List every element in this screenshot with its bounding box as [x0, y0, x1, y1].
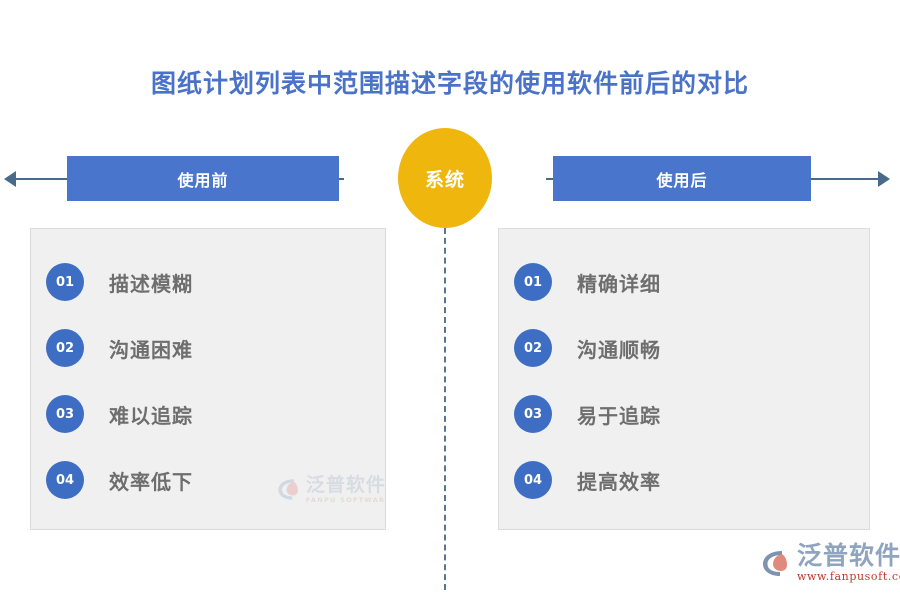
- item-label: 精确详细: [577, 268, 661, 297]
- list-item: 04 效率低下: [31, 447, 385, 513]
- list-item: 02 沟通困难: [31, 315, 385, 381]
- header-bar-after-label: 使用后: [656, 167, 707, 191]
- item-label: 提高效率: [577, 466, 661, 495]
- list-item: 01 描述模糊: [31, 249, 385, 315]
- center-system-label: 系统: [425, 165, 465, 192]
- brand-text: 泛普软件 www.fanpusoft.com: [797, 543, 900, 582]
- item-label: 描述模糊: [109, 268, 193, 297]
- item-label: 效率低下: [109, 466, 193, 495]
- list-item: 03 难以追踪: [31, 381, 385, 447]
- fanpu-logo-icon: [760, 547, 792, 579]
- page-title: 图纸计划列表中范围描述字段的使用软件前后的对比: [0, 64, 900, 100]
- header-bar-after: 使用后: [553, 156, 811, 201]
- item-number-badge: 03: [514, 395, 552, 433]
- arrow-left-icon: [4, 171, 16, 187]
- item-number-badge: 01: [46, 263, 84, 301]
- list-item: 04 提高效率: [499, 447, 869, 513]
- header-bar-before: 使用前: [67, 156, 339, 201]
- arrow-right-icon: [878, 171, 890, 187]
- item-label: 难以追踪: [109, 400, 193, 429]
- item-number-badge: 04: [46, 461, 84, 499]
- item-number-badge: 03: [46, 395, 84, 433]
- item-label: 易于追踪: [577, 400, 661, 429]
- item-number-badge: 01: [514, 263, 552, 301]
- brand-url: www.fanpusoft.com: [797, 571, 900, 582]
- infographic-canvas: 图纸计划列表中范围描述字段的使用软件前后的对比 使用前 使用后 系统 01 描述…: [0, 0, 900, 600]
- center-system-circle: 系统: [398, 128, 492, 228]
- after-item-list: 01 精确详细 02 沟通顺畅 03 易于追踪 04 提高效率: [499, 249, 869, 513]
- list-item: 03 易于追踪: [499, 381, 869, 447]
- before-item-list: 01 描述模糊 02 沟通困难 03 难以追踪 04 效率低下: [31, 249, 385, 513]
- list-item: 01 精确详细: [499, 249, 869, 315]
- item-label: 沟通困难: [109, 334, 193, 363]
- brand-name: 泛普软件: [797, 543, 900, 568]
- brand-logo: 泛普软件 www.fanpusoft.com: [760, 543, 900, 582]
- item-number-badge: 02: [514, 329, 552, 367]
- after-panel: 01 精确详细 02 沟通顺畅 03 易于追踪 04 提高效率: [498, 228, 870, 530]
- center-dashed-divider: [444, 228, 446, 590]
- item-label: 沟通顺畅: [577, 334, 661, 363]
- list-item: 02 沟通顺畅: [499, 315, 869, 381]
- before-panel: 01 描述模糊 02 沟通困难 03 难以追踪 04 效率低下: [30, 228, 386, 530]
- item-number-badge: 04: [514, 461, 552, 499]
- item-number-badge: 02: [46, 329, 84, 367]
- header-bar-before-label: 使用前: [177, 167, 228, 191]
